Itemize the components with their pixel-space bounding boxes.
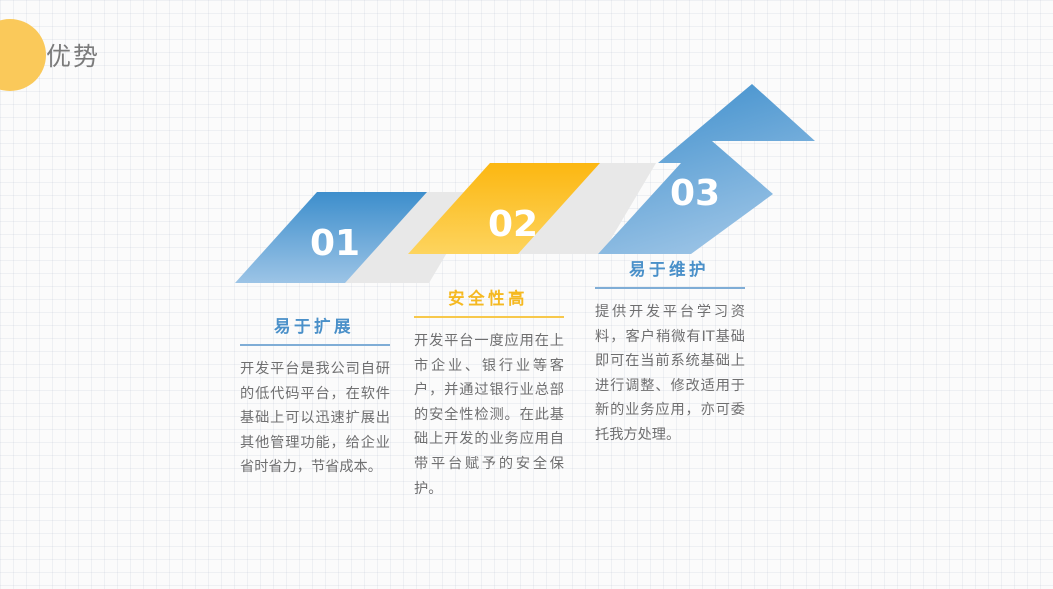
step-2-heading: 安全性高 [414,285,564,309]
step-1-heading-rule [240,344,390,346]
step-3-number: 03 [670,173,720,214]
step-1-heading: 易于扩展 [240,313,390,337]
connector-2-shape [512,163,656,254]
connector-1-shape [339,192,483,283]
step-3-heading: 易于维护 [595,256,745,280]
step-3-shape [598,84,815,254]
step-2-number: 02 [488,204,538,245]
header-decoration-circle [0,19,46,91]
step-2-heading-rule [414,316,564,318]
step-2-text-column: 安全性高 开发平台一度应用在上市企业、银行业等客户，并通过银行业总部的安全性检测… [414,285,564,501]
step-1-number: 01 [310,223,360,264]
step-3-text-column: 易于维护 提供开发平台学习资料，客户稍微有IT基础即可在当前系统基础上进行调整、… [595,256,745,448]
page-title: 优势 [46,37,100,73]
step-3-body: 提供开发平台学习资料，客户稍微有IT基础即可在当前系统基础上进行调整、修改适用于… [595,300,745,448]
slide-canvas: 优势 01 02 03 [0,0,1053,589]
step-2-body: 开发平台一度应用在上市企业、银行业等客户，并通过银行业总部的安全性检测。在此基础… [414,329,564,501]
step-1-text-column: 易于扩展 开发平台是我公司自研的低代码平台，在软件基础上可以迅速扩展出其他管理功… [240,313,390,480]
step-2-shape [408,163,600,254]
step-1-shape [235,192,427,283]
step-3-heading-rule [595,287,745,289]
step-1-body: 开发平台是我公司自研的低代码平台，在软件基础上可以迅速扩展出其他管理功能，给企业… [240,357,390,480]
